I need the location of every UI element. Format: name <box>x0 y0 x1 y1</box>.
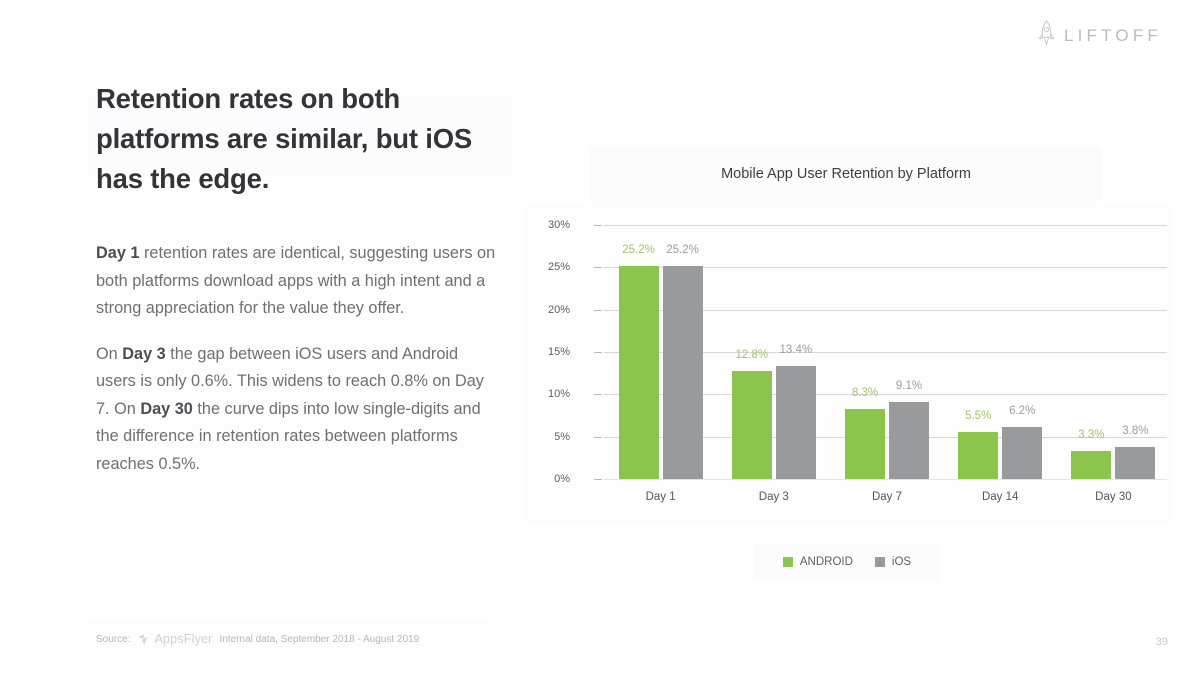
y-tick-label: 15% <box>524 346 570 358</box>
appsflyer-wordmark: AppsFlyer <box>154 632 212 646</box>
source-detail: Internal data, September 2018 - August 2… <box>220 634 420 645</box>
footer-panel <box>88 620 488 675</box>
y-tick-mark <box>594 437 602 438</box>
slide: LIFTOFF Retention rates on both platform… <box>0 0 1200 675</box>
y-tick-mark <box>594 352 602 353</box>
page-title: Retention rates on both platforms are si… <box>96 79 516 199</box>
legend-item-android[interactable]: ANDROID <box>783 556 853 568</box>
legend-swatch-icon <box>783 557 793 567</box>
bar-android-day-1 <box>619 266 659 479</box>
day30-emphasis: Day 30 <box>140 400 193 418</box>
brand-logo: LIFTOFF <box>1038 20 1162 51</box>
bar-value-label: 12.8% <box>735 349 768 361</box>
chart-title: Mobile App User Retention by Platform <box>590 166 1102 182</box>
y-tick-mark <box>594 479 602 480</box>
body-copy: Day 1 retention rates are identical, sug… <box>96 240 498 478</box>
y-tick-mark <box>594 225 602 226</box>
bar-android-day-14 <box>958 432 998 479</box>
bar-android-day-7 <box>845 409 885 479</box>
bar-android-day-3 <box>732 371 772 479</box>
appsflyer-mark-icon <box>137 633 152 646</box>
x-tick-label: Day 7 <box>872 491 902 503</box>
bar-ios-day-1 <box>663 266 703 479</box>
x-tick-label: Day 3 <box>759 491 789 503</box>
bar-value-label: 8.3% <box>852 387 878 399</box>
bar-ios-day-14 <box>1002 427 1042 479</box>
bar-ios-day-3 <box>776 366 816 479</box>
y-tick-mark <box>594 267 602 268</box>
bar-ios-day-7 <box>889 402 929 479</box>
bar-value-label: 9.1% <box>896 380 922 392</box>
y-tick-label: 0% <box>524 473 570 485</box>
y-tick-mark <box>594 310 602 311</box>
bar-chart: 0%5%10%15%20%25%30% 25.2%25.2%Day 112.8%… <box>524 205 1170 525</box>
bar-value-label: 13.4% <box>779 344 812 356</box>
y-tick-label: 20% <box>524 304 570 316</box>
source-label: Source: <box>96 634 130 645</box>
brand-name: LIFTOFF <box>1064 26 1162 46</box>
bar-value-label: 25.2% <box>666 244 699 256</box>
x-tick-label: Day 30 <box>1095 491 1131 503</box>
accent-stripe <box>0 0 18 675</box>
bar-value-label: 3.8% <box>1122 425 1148 437</box>
y-tick-mark <box>594 394 602 395</box>
chart-legend: ANDROIDiOS <box>754 543 940 581</box>
bar-value-label: 25.2% <box>622 244 655 256</box>
x-tick-label: Day 1 <box>646 491 676 503</box>
bar-value-label: 6.2% <box>1009 405 1035 417</box>
source-footer: Source: AppsFlyer Internal data, Septemb… <box>96 632 419 646</box>
y-tick-label: 5% <box>524 431 570 443</box>
legend-label: ANDROID <box>800 556 853 568</box>
legend-swatch-icon <box>875 557 885 567</box>
body-paragraph-1: Day 1 retention rates are identical, sug… <box>96 240 498 323</box>
legend-label: iOS <box>892 556 911 568</box>
body-paragraph-1-text: retention rates are identical, suggestin… <box>96 244 495 317</box>
y-tick-label: 30% <box>524 219 570 231</box>
y-axis: 0%5%10%15%20%25%30% <box>524 205 570 525</box>
page-number: 39 <box>1156 636 1168 648</box>
appsflyer-logo: AppsFlyer <box>137 632 212 646</box>
body-paragraph-2: On Day 3 the gap between iOS users and A… <box>96 341 498 479</box>
plot-area: 25.2%25.2%Day 112.8%13.4%Day 38.3%9.1%Da… <box>604 205 1170 525</box>
body-paragraph-2-pre: On <box>96 345 122 363</box>
legend-item-ios[interactable]: iOS <box>875 556 911 568</box>
x-tick-label: Day 14 <box>982 491 1018 503</box>
day1-emphasis: Day 1 <box>96 244 139 262</box>
bar-value-label: 3.3% <box>1078 429 1104 441</box>
y-tick-label: 25% <box>524 261 570 273</box>
y-tick-label: 10% <box>524 388 570 400</box>
day3-emphasis: Day 3 <box>122 345 165 363</box>
bar-ios-day-30 <box>1115 447 1155 479</box>
bar-android-day-30 <box>1071 451 1111 479</box>
bar-value-label: 5.5% <box>965 410 991 422</box>
rocket-icon <box>1038 20 1055 51</box>
